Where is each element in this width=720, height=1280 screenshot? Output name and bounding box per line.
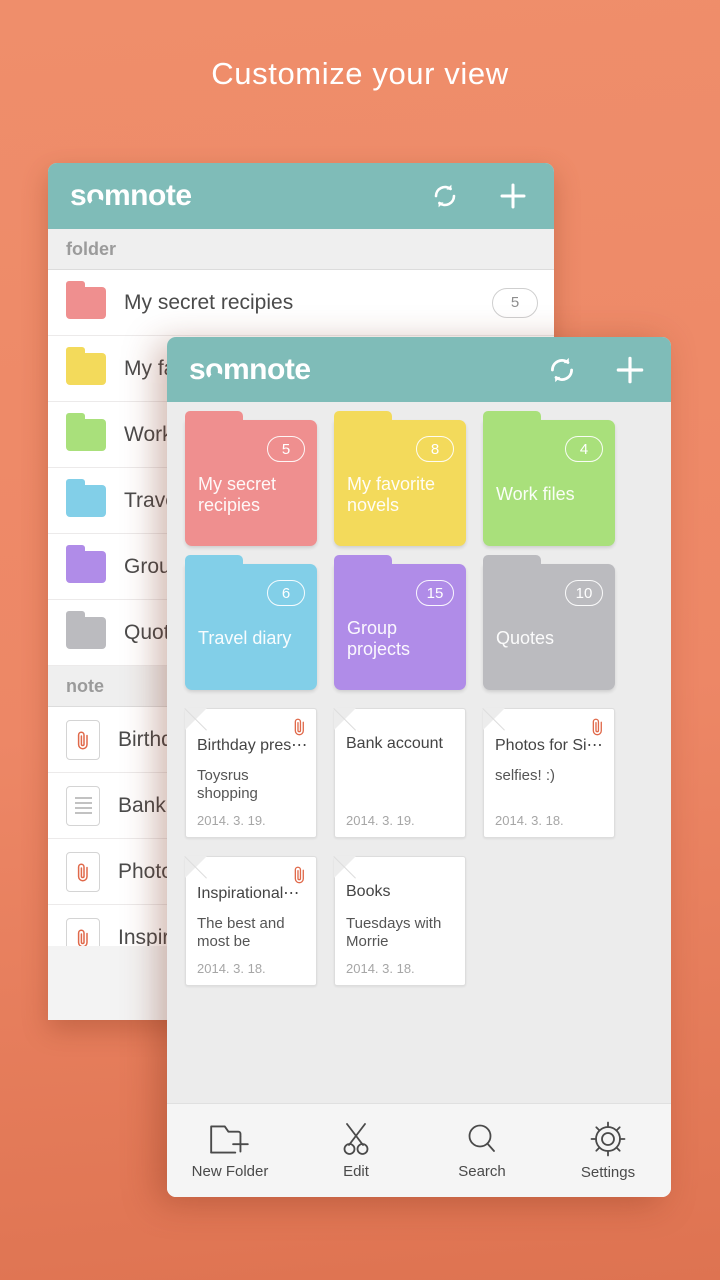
app-logo: somnote <box>70 181 192 211</box>
paperclip-icon <box>66 720 100 760</box>
note-preview: selfies! :) <box>495 767 605 785</box>
scissors-icon <box>336 1121 376 1157</box>
folder-count-badge: 5 <box>267 436 305 462</box>
note-preview: Toysrus shopping <box>197 767 307 803</box>
sync-icon[interactable] <box>426 177 464 215</box>
add-icon[interactable] <box>494 177 532 215</box>
folder-icon <box>66 551 106 583</box>
note-date: 2014. 3. 18. <box>346 961 415 976</box>
folder-tile[interactable]: 4 Work files <box>483 420 615 546</box>
folder-icon <box>66 353 106 385</box>
note-card[interactable]: Birthday pres⋯ Toysrus shopping 2014. 3.… <box>185 708 317 838</box>
note-date: 2014. 3. 19. <box>197 813 266 828</box>
folder-section-header: folder <box>48 229 554 270</box>
note-title: Photos for Si⋯ <box>495 735 606 755</box>
folder-count-badge: 15 <box>416 580 454 606</box>
note-title: Inspirational⋯ <box>197 883 308 903</box>
folder-name: Quotes <box>496 628 608 649</box>
folder-tile[interactable]: 15 Group projects <box>334 564 466 690</box>
toolbar-label: Edit <box>343 1163 369 1180</box>
note-date: 2014. 3. 18. <box>197 961 266 976</box>
toolbar-label: Settings <box>581 1164 635 1181</box>
page-fold-icon <box>185 856 207 878</box>
page-fold-icon <box>483 708 505 730</box>
folder-name: Work files <box>496 484 608 505</box>
page-fold-icon <box>334 708 356 730</box>
app-logo: somnote <box>189 355 311 385</box>
grid-view-appbar: somnote <box>167 337 671 402</box>
folder-tile[interactable]: 5 My secret recipies <box>185 420 317 546</box>
folder-count-badge: 6 <box>267 580 305 606</box>
bottom-toolbar: New Folder Edit Search <box>167 1103 671 1197</box>
folder-name: Travel diary <box>198 628 310 649</box>
toolbar-search-button[interactable]: Search <box>419 1104 545 1197</box>
folder-name: My favorite novels <box>347 474 459 516</box>
toolbar-edit-button[interactable]: Edit <box>293 1104 419 1197</box>
note-date: 2014. 3. 18. <box>495 813 564 828</box>
toolbar-settings-button[interactable]: Settings <box>545 1104 671 1197</box>
toolbar-new-folder-button[interactable]: New Folder <box>167 1104 293 1197</box>
note-preview: The best and most be <box>197 915 307 951</box>
list-appbar-actions <box>426 177 532 215</box>
folder-count-badge: 8 <box>416 436 454 462</box>
folder-tile[interactable]: 6 Travel diary <box>185 564 317 690</box>
gear-icon <box>588 1120 628 1158</box>
lines-glyph <box>75 794 92 818</box>
page-fold-icon <box>185 708 207 730</box>
folder-icon <box>66 617 106 649</box>
folder-icon <box>66 287 106 319</box>
folder-tile[interactable]: 8 My favorite novels <box>334 420 466 546</box>
note-card[interactable]: Inspirational⋯ The best and most be 2014… <box>185 856 317 986</box>
note-date: 2014. 3. 19. <box>346 813 415 828</box>
folder-count-badge: 10 <box>565 580 603 606</box>
new-folder-icon <box>207 1121 253 1157</box>
note-title: Bank account <box>346 735 457 753</box>
note-card[interactable]: Bank account 2014. 3. 19. <box>334 708 466 838</box>
folder-name: My secret recipies <box>198 474 310 516</box>
grid-view-panel: somnote 5 My secre <box>167 337 671 1197</box>
toolbar-label: Search <box>458 1163 506 1180</box>
list-view-appbar: somnote <box>48 163 554 229</box>
note-grid-row: Inspirational⋯ The best and most be 2014… <box>185 856 653 986</box>
add-icon[interactable] <box>611 351 649 389</box>
note-grid-row: Birthday pres⋯ Toysrus shopping 2014. 3.… <box>185 708 653 838</box>
list-item-folder[interactable]: My secret recipies 5 <box>48 270 554 336</box>
note-preview: Tuesdays with Morrie <box>346 915 456 951</box>
grid-content: 5 My secret recipies 8 My favorite novel… <box>167 402 671 1138</box>
note-title: Birthday pres⋯ <box>197 735 308 755</box>
logo-cloud-icon <box>90 199 105 208</box>
paperclip-icon <box>66 852 100 892</box>
page-title: Customize your view <box>0 56 720 92</box>
folder-icon <box>66 485 106 517</box>
note-card[interactable]: Books Tuesdays with Morrie 2014. 3. 18. <box>334 856 466 986</box>
folder-grid-row: 6 Travel diary 15 Group projects 10 Quot… <box>185 564 653 690</box>
folder-icon <box>66 419 106 451</box>
sync-icon[interactable] <box>543 351 581 389</box>
note-title: Books <box>346 883 457 901</box>
note-card[interactable]: Photos for Si⋯ selfies! :) 2014. 3. 18. <box>483 708 615 838</box>
folder-tile[interactable]: 10 Quotes <box>483 564 615 690</box>
search-icon <box>462 1121 502 1157</box>
lines-icon <box>66 786 100 826</box>
folder-grid-row: 5 My secret recipies 8 My favorite novel… <box>185 420 653 546</box>
page-fold-icon <box>334 856 356 878</box>
grid-appbar-actions <box>543 351 649 389</box>
folder-count-badge: 4 <box>565 436 603 462</box>
folder-name: Group projects <box>347 618 459 660</box>
folder-name: My secret recipies <box>124 291 293 315</box>
toolbar-label: New Folder <box>192 1163 269 1180</box>
folder-count-badge: 5 <box>492 288 538 318</box>
